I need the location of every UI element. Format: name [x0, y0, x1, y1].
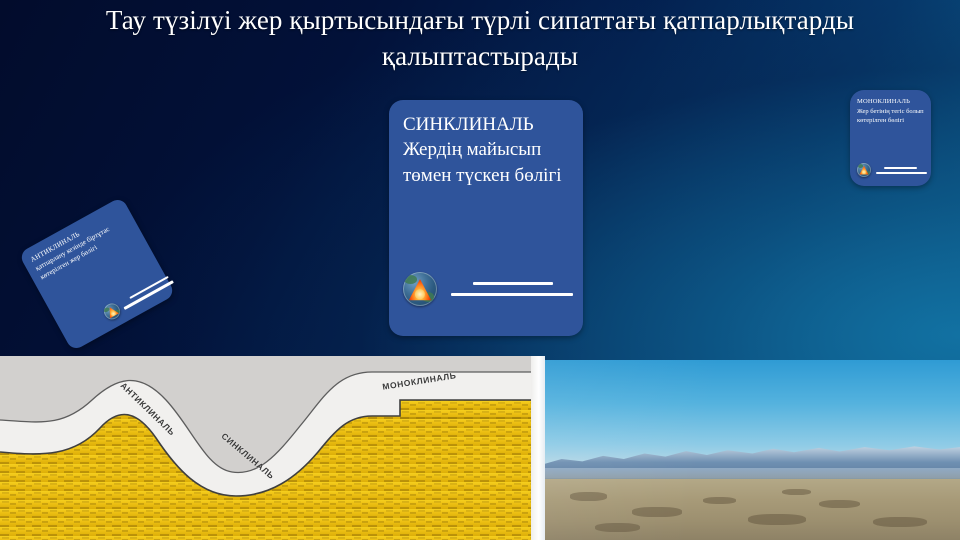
placeholder-line-long	[451, 293, 573, 296]
placeholder-line-long	[876, 172, 927, 174]
card-anticline-footer	[101, 271, 175, 322]
card-syncline-heading: СИНКЛИНАЛЬ	[403, 112, 569, 137]
card-monocline-placeholder-lines	[876, 167, 927, 174]
image-divider	[531, 356, 545, 540]
card-syncline-footer	[403, 272, 573, 306]
fold-cross-section-diagram: АНТИКЛИНАЛЬ СИНКЛИНАЛЬ МОНОКЛИНАЛЬ	[0, 356, 531, 540]
card-anticline-placeholder-lines	[120, 275, 173, 310]
mountain-landscape-photo	[545, 360, 960, 540]
photo-steppe-ground	[545, 479, 960, 540]
earth-core-icon	[403, 272, 437, 306]
card-anticline[interactable]: АНТИКЛИНАЛЬ қатпарлану кезінде біртұтас …	[18, 196, 176, 351]
placeholder-line-short	[884, 167, 917, 169]
card-monocline-footer	[857, 163, 927, 177]
card-monocline[interactable]: МОНОКЛИНАЛЬ Жер бетінің тегіс болып көте…	[850, 90, 931, 186]
card-anticline-wrapper: АНТИКЛИНАЛЬ қатпарлану кезінде біртұтас …	[18, 196, 176, 351]
bottom-image-strip: АНТИКЛИНАЛЬ СИНКЛИНАЛЬ МОНОКЛИНАЛЬ	[0, 356, 960, 540]
slide-canvas: Тау түзілуі жер қыртысындағы түрлі сипат…	[0, 0, 960, 540]
earth-core-icon	[101, 301, 123, 323]
placeholder-line-short	[473, 282, 553, 285]
card-syncline[interactable]: СИНКЛИНАЛЬ Жердің майысып төмен түскен б…	[389, 100, 583, 336]
card-monocline-body: Жер бетінің тегіс болып көтерілген бөліг…	[857, 107, 925, 126]
card-syncline-placeholder-lines	[451, 282, 573, 296]
slide-title: Тау түзілуі жер қыртысындағы түрлі сипат…	[28, 2, 932, 74]
card-monocline-heading: МОНОКЛИНАЛЬ	[857, 97, 925, 107]
earth-core-icon	[857, 163, 871, 177]
card-syncline-body: Жердің майысып төмен түскен бөлігі	[403, 137, 569, 189]
fold-cross-section-svg	[0, 356, 531, 540]
